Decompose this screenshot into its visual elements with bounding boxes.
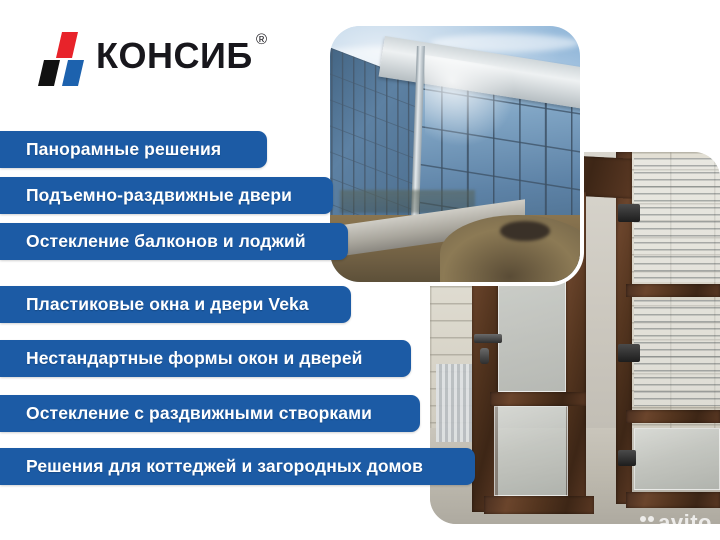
door-bottom-rail (484, 496, 594, 514)
service-banner-label: Подъемно-раздвижные двери (26, 185, 292, 206)
service-banner-label: Решения для коттеджей и загородных домов (26, 456, 423, 477)
service-banner-label: Остекление балконов и лоджий (26, 231, 306, 252)
service-banner-3[interactable]: Остекление балконов и лоджий (0, 223, 348, 260)
door-hinge-upper (618, 204, 640, 222)
door-handle[interactable] (474, 334, 502, 343)
window-blinds (634, 300, 720, 406)
service-banner-label: Нестандартные формы окон и дверей (26, 348, 363, 369)
registered-trademark-symbol: ® (256, 32, 267, 47)
transom-bar-right-upper (626, 284, 720, 297)
advertisement-canvas: КОНСИБ ® (0, 0, 720, 540)
service-banner-6[interactable]: Остекление с раздвижными створками (0, 395, 420, 432)
service-banner-1[interactable]: Панорамные решения (0, 131, 267, 168)
glass-facade-greenhouse-photo[interactable] (330, 26, 580, 282)
sill-bar-right (626, 492, 720, 508)
door-hinge-middle (618, 344, 640, 362)
sun-glare-reflection (425, 55, 515, 156)
door-hinge-lower (618, 450, 636, 466)
dark-soil-patch (500, 221, 550, 241)
door-lock-cylinder[interactable] (480, 348, 489, 364)
service-banner-5[interactable]: Нестандартные формы окон и дверей (0, 340, 411, 377)
transom-bar-right-lower (626, 410, 720, 423)
service-banner-label: Панорамные решения (26, 139, 221, 160)
company-logo[interactable]: КОНСИБ ® (38, 28, 298, 90)
logo-wordmark: КОНСИБ (96, 34, 253, 78)
service-banner-4[interactable]: Пластиковые окна и двери Veka (0, 286, 351, 323)
service-banner-7[interactable]: Решения для коттеджей и загородных домов (0, 448, 475, 485)
door-rail-middle (490, 392, 586, 406)
service-banner-2[interactable]: Подъемно-раздвижные двери (0, 177, 333, 214)
window-blinds (634, 158, 720, 282)
service-banner-label: Пластиковые окна и двери Veka (26, 294, 309, 315)
service-banner-label: Остекление с раздвижными створками (26, 403, 372, 424)
glass-pane-door-lower (494, 406, 568, 496)
glass-pane-right-lower (634, 428, 720, 490)
konsib-logo-mark-icon (38, 30, 94, 88)
